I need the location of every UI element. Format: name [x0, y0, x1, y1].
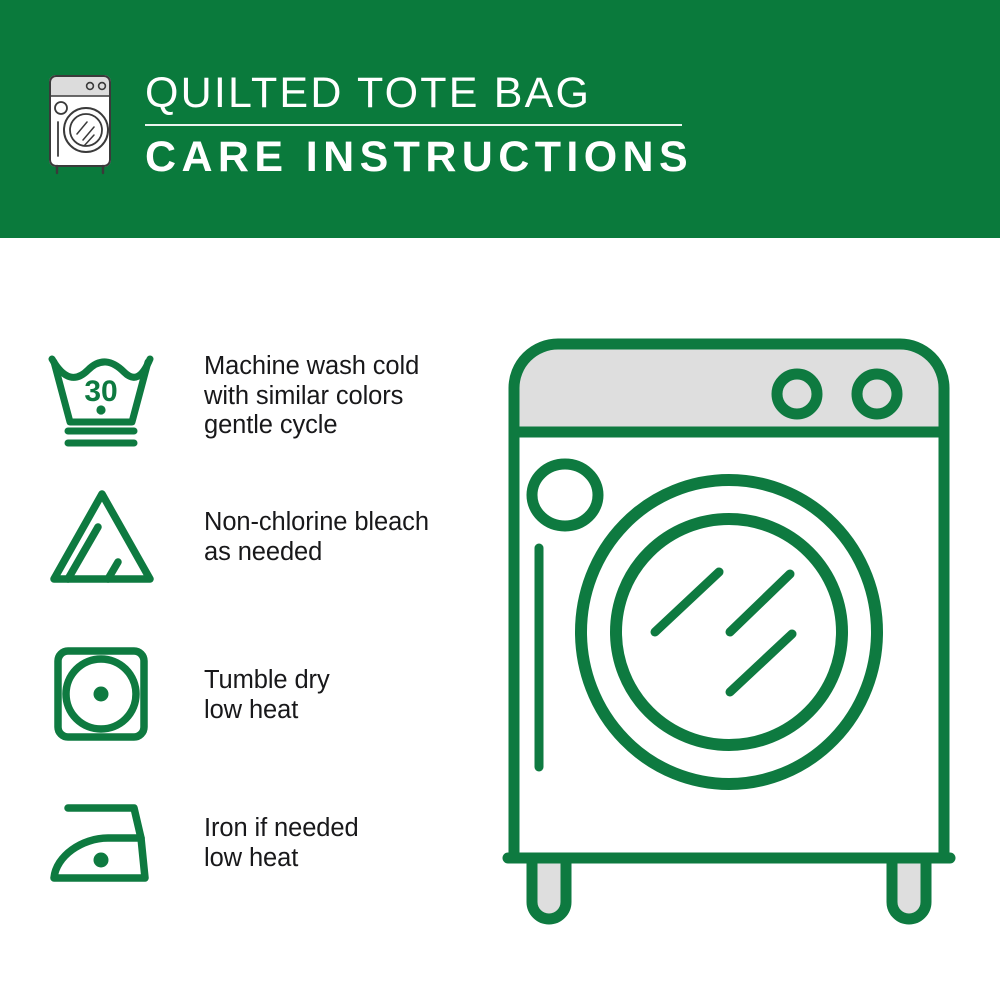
- washing-machine-illustration: [492, 332, 966, 932]
- care-text-line: Non-chlorine bleach: [204, 508, 429, 538]
- title-divider: [145, 124, 682, 126]
- care-text-line: Tumble dry: [204, 666, 330, 696]
- non-chlorine-bleach-triangle-icon: [46, 486, 166, 586]
- leg-left: [532, 858, 566, 919]
- care-instruction-row: Non-chlorine bleach as needed: [46, 486, 476, 586]
- care-instruction-row: Tumble dry low heat: [46, 644, 476, 744]
- door-highlight-lines: [655, 572, 792, 692]
- header-text-block: QUILTED TOTE BAG CARE INSTRUCTIONS: [145, 68, 705, 182]
- care-instruction-text: Iron if needed low heat: [204, 794, 359, 873]
- care-text-line: as needed: [204, 538, 429, 568]
- header-banner: QUILTED TOTE BAG CARE INSTRUCTIONS: [0, 0, 1000, 238]
- page-subtitle: CARE INSTRUCTIONS: [145, 132, 705, 182]
- care-instruction-text: Machine wash cold with similar colors ge…: [204, 348, 419, 441]
- care-text-line: Iron if needed: [204, 814, 359, 844]
- wash-temperature-label: 30: [84, 375, 117, 408]
- detergent-dial: [532, 464, 598, 526]
- wash-tub-30-icon: 30: [46, 348, 166, 448]
- care-text-line: gentle cycle: [204, 411, 419, 441]
- washing-machine-icon: [44, 72, 118, 176]
- care-instruction-row: 30 Machine wash cold with similar colors…: [46, 348, 476, 448]
- care-instructions-infographic: QUILTED TOTE BAG CARE INSTRUCTIONS 30: [0, 0, 1000, 1000]
- care-instruction-text: Tumble dry low heat: [204, 644, 330, 725]
- iron-low-heat-icon: [46, 794, 166, 894]
- care-text-line: low heat: [204, 696, 330, 726]
- page-title: QUILTED TOTE BAG: [145, 68, 705, 118]
- care-text-line: low heat: [204, 844, 359, 874]
- tumble-dry-low-icon: [46, 644, 166, 744]
- care-instruction-row: Iron if needed low heat: [46, 794, 476, 894]
- care-instruction-text: Non-chlorine bleach as needed: [204, 486, 429, 567]
- care-text-line: with similar colors: [204, 382, 419, 412]
- leg-right: [892, 858, 926, 919]
- care-text-line: Machine wash cold: [204, 352, 419, 382]
